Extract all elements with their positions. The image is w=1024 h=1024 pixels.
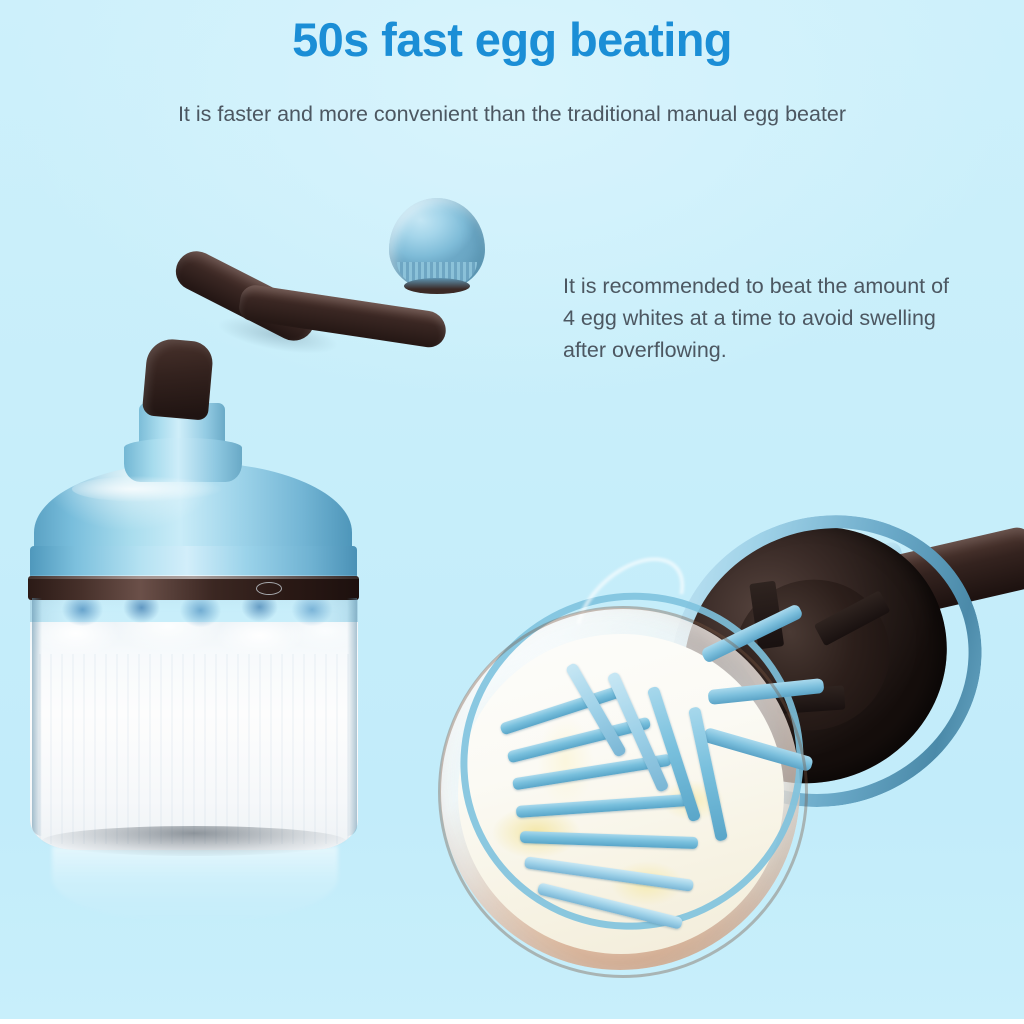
bottom-white-edge	[0, 1019, 1024, 1024]
crank-knob-collar	[404, 278, 470, 294]
clear-mixing-bowl	[30, 594, 358, 850]
dark-rim-band	[28, 576, 359, 600]
whisk-visible-through-foam	[30, 596, 358, 630]
bowl-left-edge	[32, 598, 42, 836]
page-title: 50s fast egg beating	[0, 14, 1024, 66]
lid-highlight	[72, 476, 222, 502]
bowl-base-shadow	[42, 826, 346, 856]
product-image-main-beater	[12, 190, 412, 890]
subtitle-text: It is faster and more convenient than th…	[170, 99, 854, 130]
rim-highlight	[28, 575, 359, 579]
usage-note-text: It is recommended to beat the amount of …	[563, 271, 963, 366]
product-image-whisk-detail	[440, 508, 1024, 1024]
product-marketing-banner: 50s fast egg beating It is faster and mo…	[0, 0, 1024, 1024]
crank-arm-base	[142, 337, 215, 420]
bowl-right-edge	[347, 598, 357, 836]
rim-logo-icon	[256, 582, 282, 595]
foam-texture	[30, 654, 358, 844]
